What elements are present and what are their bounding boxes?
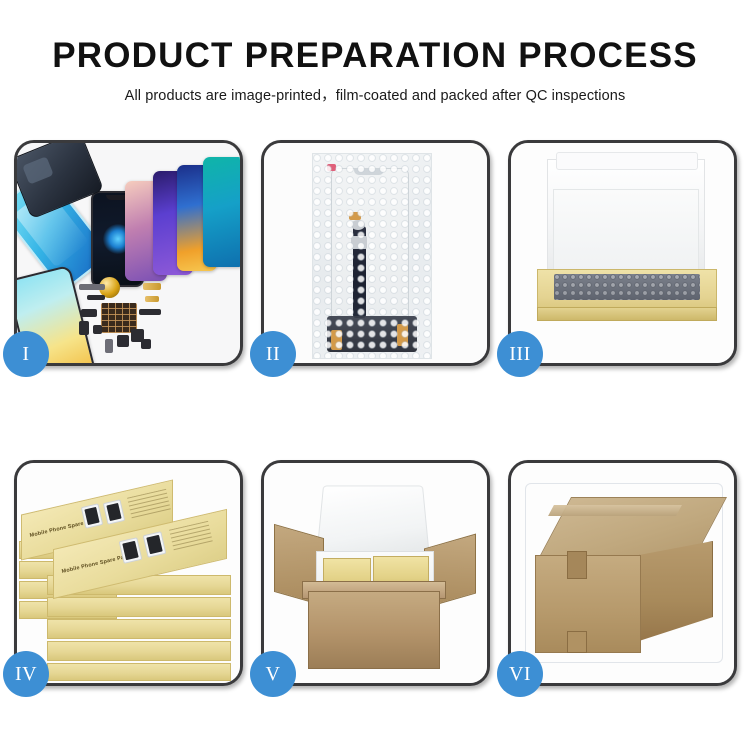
spare-part-flex-a (139, 309, 161, 315)
step-panel-1[interactable]: I (14, 140, 243, 366)
stacked-box-r4 (47, 641, 231, 661)
step-4-image: Mobile Phone Spare Parts Mobile Phone Sp… (17, 463, 240, 683)
spare-part-ic-e (141, 339, 151, 349)
step-panel-3[interactable]: III (508, 140, 737, 366)
step-badge-2: II (250, 331, 296, 377)
stacked-box-r5 (47, 663, 231, 681)
step-badge-3: III (497, 331, 543, 377)
step-panel-6[interactable]: VI (508, 460, 737, 686)
stacked-box-r3 (47, 619, 231, 639)
step-badge-5: V (250, 651, 296, 697)
spare-part-speaker (79, 284, 105, 290)
bubble-wrap-contents (554, 274, 700, 300)
step-badge-4: IV (3, 651, 49, 697)
carton-body (308, 591, 440, 669)
step-5-image (264, 463, 487, 683)
step-panel-5[interactable]: V (261, 460, 490, 686)
foam-sheet (553, 189, 699, 273)
step-panel-4[interactable]: Mobile Phone Spare Parts Mobile Phone Sp… (14, 460, 243, 686)
page-subtitle: All products are image-printed，film-coat… (0, 84, 750, 105)
step-3-image (511, 143, 734, 363)
foam-lid-open (317, 486, 430, 553)
step-6-image (511, 463, 734, 683)
bubble-wrap-bag (312, 153, 432, 359)
steps-grid: I II (14, 140, 736, 686)
carton-seal-tape (548, 505, 682, 516)
bubble-texture (313, 154, 431, 358)
spare-part-ic-d (117, 335, 129, 347)
page-title: PRODUCT PREPARATION PROCESS (0, 36, 750, 76)
spare-part-ic-c (93, 325, 102, 334)
spare-part-ic-a (81, 309, 97, 317)
spare-part-ic-b (79, 321, 89, 335)
step-badge-1: I (3, 331, 49, 377)
step-2-image (264, 143, 487, 363)
carton-front-face (535, 555, 641, 653)
spare-part-sim-tray (105, 339, 113, 353)
kraft-box-front-lip (537, 307, 717, 321)
step-1-image (17, 143, 240, 363)
step-badge-6: VI (497, 651, 543, 697)
step-panel-2[interactable]: II (261, 140, 490, 366)
product-preparation-infographic: PRODUCT PREPARATION PROCESS All products… (0, 0, 750, 750)
stacked-box-r2 (47, 597, 231, 617)
spare-part-connector (145, 296, 159, 302)
spare-part-flex-gold (143, 283, 161, 290)
phone-teal (203, 157, 240, 267)
spare-part-flex-b (87, 295, 105, 300)
carton-tab-upper (567, 551, 587, 579)
box-stack: Mobile Phone Spare Parts Mobile Phone Sp… (17, 463, 240, 683)
carton-tab-lower (567, 631, 587, 653)
